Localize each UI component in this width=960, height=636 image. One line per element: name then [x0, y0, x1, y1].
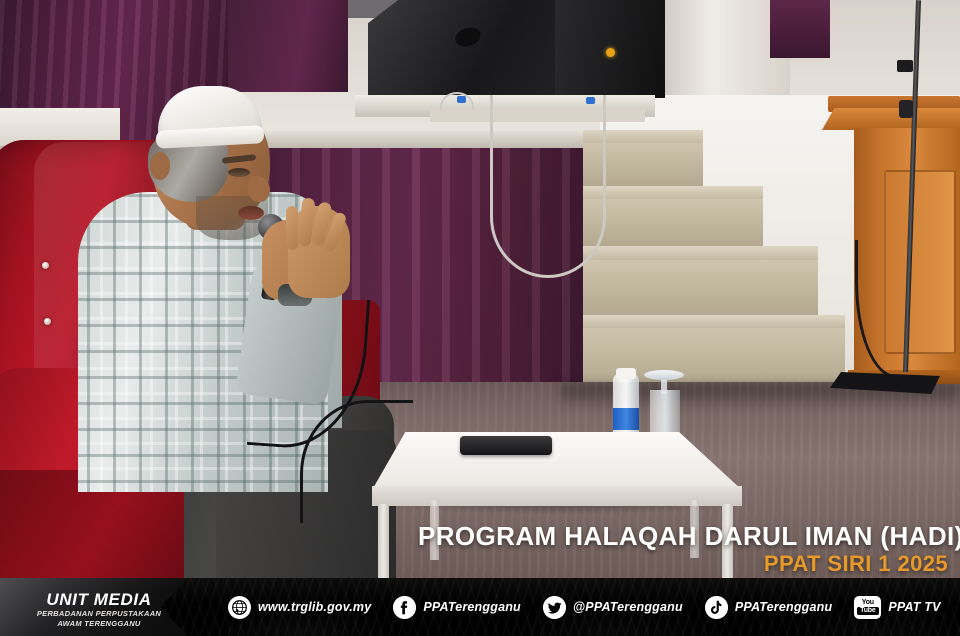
- stair-tread-4: [583, 315, 845, 329]
- youtube-glyph-tube: Tube: [857, 607, 878, 615]
- stair-tread-3: [583, 246, 818, 261]
- purple-curtain-right: [770, 0, 830, 58]
- water-bottle-cap: [616, 368, 636, 379]
- glass-stem: [661, 378, 667, 394]
- table-edge: [372, 486, 742, 506]
- event-title-overlay: PROGRAM HALAQAH DARUL IMAN (HADI) PPAT S…: [418, 521, 948, 577]
- mic-stand-clamp-upper: [897, 60, 913, 72]
- tiktok-icon: [705, 596, 728, 619]
- chair-tuft: [44, 318, 51, 325]
- speaker-cable: [490, 95, 606, 278]
- social-item-twitter[interactable]: @PPATerengganu: [543, 596, 683, 619]
- website-label: www.trglib.gov.my: [258, 600, 371, 614]
- unit-media-subtitle-2: AWAM TERENGGANU: [24, 619, 174, 629]
- event-title-main: PROGRAM HALAQAH DARUL IMAN (HADI): [418, 521, 948, 551]
- twitter-icon: [543, 596, 566, 619]
- social-links-row: www.trglib.gov.my PPATerengganu: [228, 578, 960, 636]
- white-side-table-top: [372, 432, 742, 490]
- facebook-label: PPATerengganu: [423, 600, 521, 614]
- speaker-finger: [286, 206, 298, 250]
- globe-icon: [228, 596, 251, 619]
- cable-plug-left: [457, 96, 466, 103]
- tiktok-label: PPATerengganu: [735, 600, 833, 614]
- speaker-eye: [228, 168, 250, 177]
- speaker-power-led: [606, 48, 615, 57]
- facebook-icon: [393, 596, 416, 619]
- water-bottle-label: [613, 408, 639, 430]
- branding-footer-bar: UNIT MEDIA PERBADANAN PERPUSTAKAAN AWAM …: [0, 578, 960, 636]
- social-item-facebook[interactable]: PPATerengganu: [393, 596, 521, 619]
- table-leg-front-left: [378, 504, 389, 582]
- screenshot-root: PROGRAM HALAQAH DARUL IMAN (HADI) PPAT S…: [0, 0, 960, 636]
- mic-stand-clamp-lower: [899, 100, 913, 118]
- unit-media-subtitle-1: PERBADANAN PERPUSTAKAAN: [24, 609, 174, 619]
- purple-curtain-center: [228, 0, 348, 92]
- social-item-tiktok[interactable]: PPATerengganu: [705, 596, 833, 619]
- stair-riser-3: [583, 260, 818, 316]
- speaker-ear: [150, 152, 170, 180]
- cable-plug-right: [586, 97, 595, 104]
- glass-foot: [644, 370, 684, 380]
- smartphone-on-table: [460, 436, 552, 455]
- social-item-youtube[interactable]: You Tube PPAT TV: [854, 596, 940, 619]
- youtube-glyph-you: You: [862, 599, 874, 606]
- event-title-sub: PPAT SIRI 1 2025: [418, 551, 948, 577]
- unit-media-logo: UNIT MEDIA PERBADANAN PERPUSTAKAAN AWAM …: [24, 590, 174, 629]
- unit-media-title: UNIT MEDIA: [24, 590, 174, 609]
- podium-cap: [822, 108, 960, 130]
- speaker-nose: [248, 176, 270, 202]
- youtube-icon: You Tube: [854, 596, 881, 619]
- youtube-label: PPAT TV: [888, 600, 940, 614]
- stair-tread-2: [583, 186, 763, 200]
- chair-tuft: [42, 262, 49, 269]
- stair-riser-2: [583, 199, 763, 247]
- twitter-label: @PPATerengganu: [573, 600, 683, 614]
- social-item-website[interactable]: www.trglib.gov.my: [228, 596, 371, 619]
- stage-monitor-speaker-left: [368, 0, 583, 105]
